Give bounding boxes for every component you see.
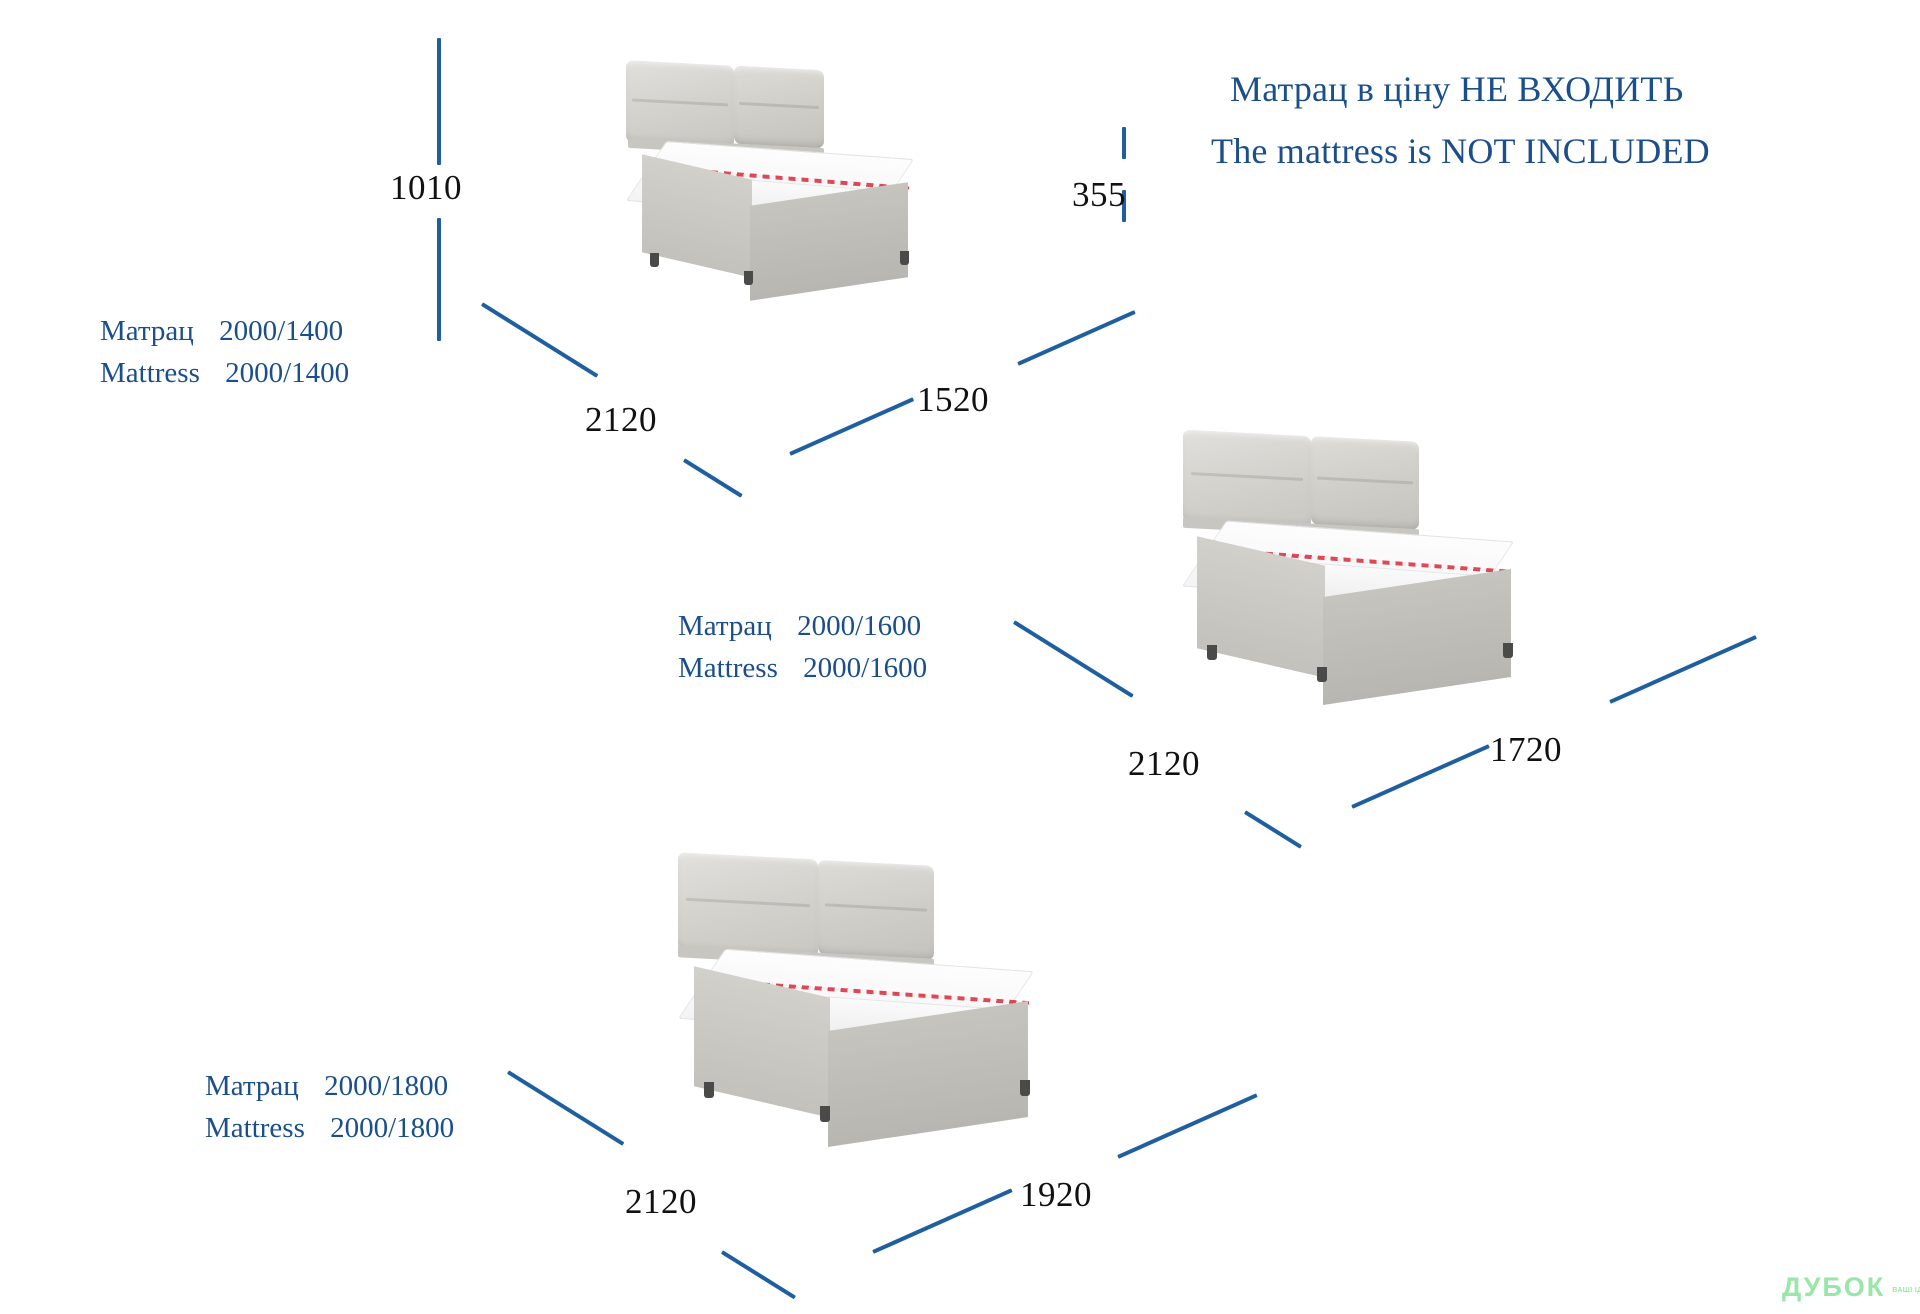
dimension-line-2120-a-bed3 [507, 1070, 624, 1145]
dimension-line-2120-a-bed1 [481, 302, 598, 377]
notice-mattress-not-included-en: The mattress is NOT INCLUDED [1211, 128, 1710, 175]
notice-mattress-not-included-uk: Матрац в ціну НЕ ВХОДИТЬ [1230, 66, 1684, 113]
dimension-line-2120-a-bed2 [1013, 620, 1134, 698]
dimension-tick-1010-upper [437, 38, 441, 165]
dimension-tick-1010-lower [437, 218, 441, 341]
mattress-label-en-key: Mattress [205, 1107, 305, 1149]
mattress-label-uk-key: Матрац [678, 605, 772, 647]
dimension-line-1720-a-bed2 [1351, 744, 1490, 809]
mattress-size-uk: 2000/1800 [324, 1065, 448, 1107]
mattress-size-en: 2000/1800 [330, 1107, 454, 1149]
mattress-label-en-key: Mattress [100, 352, 200, 394]
dimension-line-2120-b-bed1 [683, 458, 743, 497]
bed-foot-1 [650, 253, 659, 267]
dimension-line-1520-a-bed1 [789, 397, 914, 456]
mattress-size-en: 2000/1600 [803, 647, 927, 689]
dimension-355: 355 [1072, 175, 1126, 215]
bed-foot-3 [1503, 643, 1513, 658]
dimension-1720-bed2: 1720 [1490, 730, 1562, 770]
mattress-size-uk: 2000/1400 [219, 310, 343, 352]
headboard-panel-right [734, 66, 824, 149]
bed-foot-3 [1020, 1080, 1030, 1096]
mattress-label-1400: Матрац 2000/1400 Mattress 2000/1400 [100, 310, 349, 394]
headboard-panel-left [626, 60, 734, 148]
bed-illustration-1800 [650, 830, 1180, 1160]
dimension-2120-bed2: 2120 [1128, 744, 1200, 784]
mattress-size-en: 2000/1400 [225, 352, 349, 394]
bed-illustration-1400 [600, 55, 1040, 330]
dimension-tick-355-upper [1122, 127, 1126, 159]
dimension-line-2120-b-bed3 [721, 1250, 796, 1299]
diagram-canvas: Матрац в ціну НЕ ВХОДИТЬ The mattress is… [0, 0, 1920, 1314]
bed-foot-2 [744, 271, 753, 285]
headboard-panel-left [678, 852, 818, 957]
bed-foot-1 [1207, 645, 1217, 660]
watermark-dubok: ДУБОКВАШІ ІДЕАЛЬНІ МЕБЛІ [1782, 1272, 1920, 1303]
mattress-label-1600: Матрац 2000/1600 Mattress 2000/1600 [678, 605, 927, 689]
dimension-2120-bed3: 2120 [625, 1182, 697, 1222]
mattress-label-en-key: Mattress [678, 647, 778, 689]
bed-foot-1 [704, 1082, 714, 1098]
bed-foot-3 [900, 251, 909, 265]
dimension-line-1920-a-bed3 [872, 1188, 1012, 1253]
bed-illustration-1600 [1155, 405, 1655, 715]
dimension-1920-bed3: 1920 [1020, 1175, 1092, 1215]
bed-foot-2 [820, 1106, 830, 1122]
dimension-2120-bed1: 2120 [585, 400, 657, 440]
dimension-line-2120-b-bed2 [1244, 810, 1302, 848]
bed-foot-2 [1317, 667, 1327, 682]
dimension-1520-bed1: 1520 [917, 380, 989, 420]
headboard-panel-right [1311, 436, 1419, 530]
mattress-size-uk: 2000/1600 [797, 605, 921, 647]
mattress-label-uk-key: Матрац [100, 310, 194, 352]
headboard-panel-left [1183, 430, 1311, 529]
watermark-sub-text: ВАШІ ІДЕАЛЬНІ МЕБЛІ [1892, 1287, 1920, 1296]
mattress-label-1800: Матрац 2000/1800 Mattress 2000/1800 [205, 1065, 454, 1149]
dimension-1010: 1010 [390, 168, 462, 208]
watermark-main-text: ДУБОК [1782, 1272, 1885, 1302]
mattress-label-uk-key: Матрац [205, 1065, 299, 1107]
headboard-panel-right [818, 860, 934, 960]
